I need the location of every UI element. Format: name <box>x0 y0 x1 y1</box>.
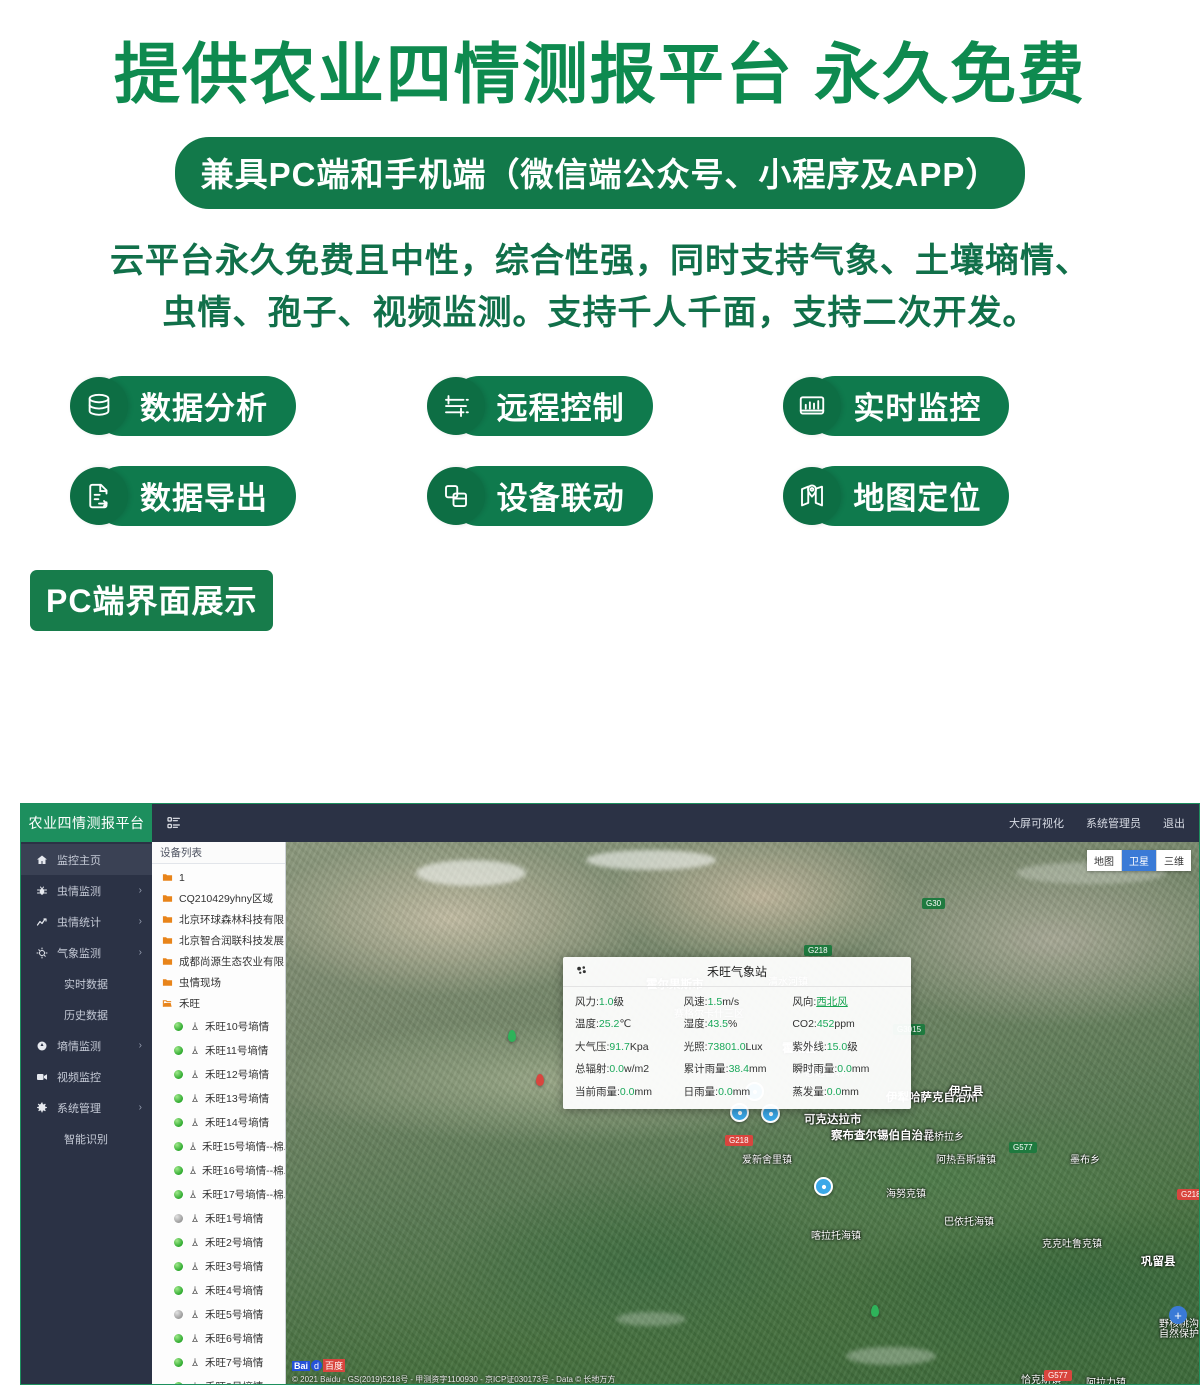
weather-value: 0.0 <box>620 1086 635 1098</box>
subtitle-badge: 兼具PC端和手机端（微信端公众号、小程序及APP） <box>175 137 1026 209</box>
device-label: 禾旺10号墒情 <box>205 1019 269 1034</box>
device-item[interactable]: 禾旺15号墒情--棉... <box>152 1134 285 1158</box>
map-label: 克克吐鲁克镇 <box>1042 1239 1102 1251</box>
sidebar-item-label: 视频监控 <box>57 1069 101 1085</box>
chevron-right-icon: › <box>139 916 142 927</box>
folder-icon <box>162 893 173 904</box>
weather-value: 0.0 <box>609 1063 624 1075</box>
sidebar-item-label: 虫情监测 <box>57 883 101 899</box>
map-label: 花桥拉乡 <box>924 1132 964 1144</box>
sidebar-item-label: 气象监测 <box>57 945 101 961</box>
weather-row: 总辐射:0.0w/m2 <box>575 1060 684 1078</box>
status-dot-online <box>174 1070 183 1079</box>
weather-unit: m/s <box>722 996 739 1008</box>
road-badge: G30 <box>922 898 945 909</box>
status-dot-online <box>174 1262 183 1271</box>
tree-folder-label: 北京环球森林科技有限... <box>179 912 285 927</box>
device-item[interactable]: 禾旺11号墒情 <box>152 1038 285 1062</box>
map-terrain-highlight <box>586 850 716 870</box>
map-layer-3d[interactable]: 三维 <box>1157 850 1191 871</box>
sidebar: 监控主页 虫情监测 › 虫情 <box>21 842 152 1385</box>
weather-label: 温度: <box>575 1018 599 1030</box>
device-label: 禾旺3号墒情 <box>205 1259 263 1274</box>
feature-label: 设备联动 <box>497 473 625 518</box>
device-label: 禾旺12号墒情 <box>205 1067 269 1082</box>
map-marker-poi[interactable] <box>871 1305 879 1317</box>
map-label: 海努克镇 <box>886 1189 926 1201</box>
map-canvas[interactable]: 地图 卫星 三维 霍尔果斯市 清水河镇 赛格尔卡什三区 霍城县 惠远古城 可克达… <box>286 842 1199 1385</box>
sidebar-item-label: 虫情统计 <box>57 914 101 930</box>
device-tree[interactable]: 1 CQ210429yhny区域 北京环球森林科技有限... 北京智合润联科技发… <box>152 864 285 1385</box>
road-badge: G218 <box>725 1135 753 1146</box>
status-dot-online <box>174 1358 183 1367</box>
folder-icon <box>162 872 173 883</box>
weather-value: 1.5 <box>708 996 723 1008</box>
map-pin-icon <box>783 467 841 525</box>
road-badge: G577 <box>1009 1142 1037 1153</box>
sidebar-item-label: 系统管理 <box>57 1100 101 1116</box>
weather-unit: mm <box>852 1063 870 1075</box>
weather-label: 光照: <box>684 1041 708 1053</box>
soil-icon <box>188 1261 201 1271</box>
device-item[interactable]: 禾旺1号墒情 <box>152 1206 285 1230</box>
weather-value: 452 <box>817 1018 835 1030</box>
database-icon <box>70 377 128 435</box>
body-copy: 云平台永久免费且中性，综合性强，同时支持气象、土壤墒情、 虫情、孢子、视频监测。… <box>0 235 1200 340</box>
weather-row: 湿度:43.5% <box>684 1015 793 1033</box>
file-export-icon <box>70 467 128 525</box>
video-icon <box>33 1071 50 1083</box>
map-marker-device[interactable] <box>814 1177 833 1196</box>
tree-folder-label: CQ210429yhny区域 <box>179 891 273 906</box>
body-copy-line-1: 云平台永久免费且中性，综合性强，同时支持气象、土壤墒情、 <box>0 235 1200 288</box>
device-label: 禾旺16号墒情--棉... <box>202 1163 285 1178</box>
feature-remote-control[interactable]: 远程控制 <box>449 376 653 436</box>
weather-popup-header: 禾旺气象站 <box>563 957 911 987</box>
weather-label: 风速: <box>684 996 708 1008</box>
status-dot-online <box>174 1238 183 1247</box>
chevron-right-icon: › <box>139 947 142 958</box>
weather-row: 蒸发量:0.0mm <box>792 1083 901 1101</box>
device-label: 禾旺17号墒情--棉... <box>202 1187 285 1202</box>
weather-value: 43.5 <box>708 1018 728 1030</box>
feature-data-export[interactable]: 数据导出 <box>92 466 296 526</box>
weather-row: 当前雨量:0.0mm <box>575 1083 684 1101</box>
page-title: 提供农业四情测报平台 永久免费 <box>0 38 1200 111</box>
tree-folder-label: 北京智合润联科技发展... <box>179 933 285 948</box>
weather-value: 0.0 <box>837 1063 852 1075</box>
tree-folder[interactable]: CQ210429yhny区域 <box>152 888 285 909</box>
baidu-logo-text-right: 百度 <box>323 1359 345 1372</box>
feature-label: 数据分析 <box>140 383 268 428</box>
status-dot-online <box>174 1046 183 1055</box>
weather-row: 风力:1.0级 <box>575 993 684 1011</box>
device-panel: 设备列表 1 CQ210429yhny区域 北京环球森林科技有限... 北京智合… <box>152 842 286 1385</box>
soil-icon <box>188 1093 201 1103</box>
status-dot-online <box>174 1334 183 1343</box>
chevron-right-icon: › <box>139 885 142 896</box>
map-marker-poi[interactable] <box>508 1030 516 1042</box>
map-label: 阿热吾斯塘镇 <box>936 1155 996 1167</box>
tree-folder-open[interactable]: 禾旺 <box>152 993 285 1014</box>
weather-popup-title: 禾旺气象站 <box>563 963 911 980</box>
weather-row: CO2:452ppm <box>792 1015 901 1033</box>
tree-folder-label: 禾旺 <box>179 996 200 1011</box>
weather-value: 38.4 <box>729 1063 749 1075</box>
tree-folder[interactable]: 虫情现场 <box>152 972 285 993</box>
map-label: 巩留县 <box>1141 1256 1176 1269</box>
status-dot-online <box>174 1094 183 1103</box>
weather-value: 0.0 <box>827 1086 842 1098</box>
soil-icon <box>188 1357 201 1367</box>
feature-device-linkage[interactable]: 设备联动 <box>449 466 653 526</box>
weather-label: 日雨量: <box>684 1086 718 1098</box>
sidebar-item-history-data[interactable]: 历史数据 <box>21 999 152 1030</box>
sliders-icon <box>427 377 485 435</box>
device-label: 禾旺15号墒情--棉... <box>202 1139 285 1154</box>
weather-value: 15.0 <box>827 1041 847 1053</box>
map-zoom-in-button[interactable]: + <box>1169 1306 1187 1324</box>
device-item[interactable]: 禾旺6号墒情 <box>152 1326 285 1350</box>
device-label: 禾旺8号墒情 <box>205 1379 263 1385</box>
sidebar-item-pest-stats[interactable]: 虫情统计 › <box>21 906 152 937</box>
device-item[interactable]: 禾旺17号墒情--棉... <box>152 1182 285 1206</box>
sidebar-item-pest-monitor[interactable]: 虫情监测 › <box>21 875 152 906</box>
weather-value: 1.0 <box>599 996 614 1008</box>
device-label: 禾旺6号墒情 <box>205 1331 263 1346</box>
app-screenshot: 农业四情测报平台 大屏可视化 系统管理员 退出 监控主页 <box>20 803 1200 1385</box>
map-terrain-highlight <box>846 1347 936 1365</box>
tree-folder[interactable]: 北京环球森林科技有限... <box>152 909 285 930</box>
device-label: 禾旺14号墒情 <box>205 1115 269 1130</box>
topbar-action-logout[interactable]: 退出 <box>1163 815 1185 831</box>
feature-label: 实时监控 <box>853 383 981 428</box>
tree-folder[interactable]: 成都尚源生态农业有限... <box>152 951 285 972</box>
soil-icon <box>188 1285 201 1295</box>
device-item[interactable]: 禾旺12号墒情 <box>152 1062 285 1086</box>
map-label: 爱新舍里镇 <box>742 1155 792 1167</box>
device-item[interactable]: 禾旺8号墒情 <box>152 1374 285 1385</box>
sidebar-item-weather-monitor[interactable]: 气象监测 › <box>21 937 152 968</box>
weather-unit: mm <box>733 1086 751 1098</box>
app-topbar: 农业四情测报平台 大屏可视化 系统管理员 退出 <box>21 804 1199 842</box>
section-tag-container: PC端界面展示 <box>30 570 1200 631</box>
weather-row: 瞬时雨量:0.0mm <box>792 1060 901 1078</box>
weather-row: 光照:73801.0Lux <box>684 1038 793 1056</box>
map-label: 喀拉托海镇 <box>811 1231 861 1243</box>
feature-data-analysis[interactable]: 数据分析 <box>92 376 296 436</box>
status-dot-online <box>174 1382 183 1385</box>
weather-popup[interactable]: 禾旺气象站 风力:1.0级 风速:1.5m/s 风向:西北风 温度:25.2℃ … <box>563 957 911 1109</box>
weather-value: 西北风 <box>816 996 848 1008</box>
weather-label: CO2: <box>792 1018 817 1030</box>
soil-icon <box>188 1381 201 1385</box>
topbar-actions: 大屏可视化 系统管理员 退出 <box>1009 804 1185 842</box>
sidebar-item-video-monitor[interactable]: 视频监控 <box>21 1061 152 1092</box>
sidebar-item-home[interactable]: 监控主页 <box>21 844 152 875</box>
folder-icon <box>162 956 173 967</box>
baidu-logo-text-left: Bai <box>292 1361 310 1371</box>
sidebar-item-realtime-data[interactable]: 实时数据 <box>21 968 152 999</box>
map-terrain-highlight <box>616 1312 686 1326</box>
weather-unit: mm <box>635 1086 653 1098</box>
baidu-logo: Bai d 百度 <box>292 1359 345 1372</box>
status-dot-offline <box>174 1214 183 1223</box>
status-dot-online <box>174 1118 183 1127</box>
gear-icon <box>33 1102 50 1114</box>
map-label: 可克达拉市 <box>804 1114 862 1127</box>
feature-label: 地图定位 <box>853 473 981 518</box>
weather-unit: 级 <box>614 996 625 1008</box>
weather-row: 风速:1.5m/s <box>684 993 793 1011</box>
folder-icon <box>162 914 173 925</box>
device-label: 禾旺2号墒情 <box>205 1235 263 1250</box>
weather-label: 湿度: <box>684 1018 708 1030</box>
soil-icon <box>188 1045 201 1055</box>
weather-unit: mm <box>749 1063 767 1075</box>
device-item[interactable]: 禾旺3号墒情 <box>152 1254 285 1278</box>
folder-open-icon <box>162 998 173 1009</box>
weather-label: 总辐射: <box>575 1063 609 1075</box>
map-attribution-text: © 2021 Baidu - GS(2019)5218号 - 甲测资字11009… <box>286 1374 615 1385</box>
device-label: 禾旺7号墒情 <box>205 1355 263 1370</box>
road-badge: G218 <box>804 945 832 956</box>
soil-icon <box>188 1309 201 1319</box>
topbar-action-bigscreen[interactable]: 大屏可视化 <box>1009 815 1064 831</box>
weather-label: 风力: <box>575 996 599 1008</box>
weather-value: 0.0 <box>718 1086 733 1098</box>
soil-icon <box>188 1141 198 1151</box>
monitor-icon <box>783 377 841 435</box>
map-terrain-highlight <box>416 860 526 886</box>
device-label: 禾旺4号墒情 <box>205 1283 263 1298</box>
weather-value: 73801.0 <box>708 1041 746 1053</box>
chevron-right-icon: › <box>139 1040 142 1051</box>
feature-label: 远程控制 <box>497 383 625 428</box>
map-label: 伊宁县 <box>949 1086 984 1099</box>
device-item[interactable]: 禾旺5号墒情 <box>152 1302 285 1326</box>
list-toggle-icon[interactable] <box>166 815 182 831</box>
app-brand: 农业四情测报平台 <box>21 804 152 842</box>
settings-icon[interactable] <box>575 964 589 981</box>
weather-label: 紫外线: <box>792 1041 826 1053</box>
weather-value: 91.7 <box>609 1041 629 1053</box>
weather-row: 紫外线:15.0级 <box>792 1038 901 1056</box>
map-label: 巴依托海镇 <box>944 1217 994 1229</box>
weather-row: 风向:西北风 <box>792 993 901 1011</box>
weather-label: 风向: <box>792 996 816 1008</box>
sun-icon <box>33 947 50 959</box>
folder-icon <box>162 977 173 988</box>
weather-label: 当前雨量: <box>575 1086 620 1098</box>
device-item[interactable]: 禾旺4号墒情 <box>152 1278 285 1302</box>
device-item[interactable]: 禾旺7号墒情 <box>152 1350 285 1374</box>
device-item[interactable]: 禾旺10号墒情 <box>152 1014 285 1038</box>
subtitle-container: 兼具PC端和手机端（微信端公众号、小程序及APP） <box>0 137 1200 209</box>
soil-icon <box>188 1069 201 1079</box>
chart-line-icon <box>33 916 50 928</box>
weather-unit: 级 <box>847 1041 858 1053</box>
chevron-right-icon: › <box>139 1102 142 1113</box>
weather-row: 大气压:91.7Kpa <box>575 1038 684 1056</box>
weather-unit: ℃ <box>619 1018 631 1030</box>
status-dot-online <box>174 1166 183 1175</box>
feature-list: 数据分析 远程控制 实时监控 <box>70 376 1130 526</box>
sidebar-item-label: 监控主页 <box>57 852 101 868</box>
status-dot-offline <box>174 1310 183 1319</box>
tree-folder[interactable]: 1 <box>152 867 285 888</box>
weather-unit: Lux <box>746 1041 763 1053</box>
soil-icon <box>188 1117 201 1127</box>
device-label: 禾旺11号墒情 <box>205 1043 268 1058</box>
status-dot-online <box>174 1022 183 1031</box>
feature-label: 数据导出 <box>140 473 268 518</box>
map-attribution-bar: © 2021 Baidu - GS(2019)5218号 - 甲测资字11009… <box>286 1373 1199 1385</box>
soil-icon <box>188 1213 201 1223</box>
body-copy-line-2: 虫情、孢子、视频监测。支持千人千面，支持二次开发。 <box>0 287 1200 340</box>
soil-icon <box>188 1333 201 1343</box>
status-dot-online <box>174 1142 183 1151</box>
soil-icon <box>188 1189 198 1199</box>
folder-icon <box>162 935 173 946</box>
soil-icon <box>188 1021 201 1031</box>
status-dot-online <box>174 1190 183 1199</box>
tree-folder-label: 1 <box>179 872 185 884</box>
weather-row: 温度:25.2℃ <box>575 1015 684 1033</box>
weather-label: 大气压: <box>575 1041 609 1053</box>
sidebar-item-system-manage[interactable]: 系统管理 › <box>21 1092 152 1123</box>
weather-unit: % <box>728 1018 737 1030</box>
sidebar-item-smart-recognition[interactable]: 智能识别 <box>21 1123 152 1154</box>
map-label: 自然保护区 <box>1159 1329 1199 1341</box>
devices-link-icon <box>427 467 485 525</box>
device-label: 禾旺13号墒情 <box>205 1091 269 1106</box>
tree-folder-label: 虫情现场 <box>179 975 221 990</box>
weather-popup-grid: 风力:1.0级 风速:1.5m/s 风向:西北风 温度:25.2℃ 湿度:43.… <box>563 987 911 1109</box>
map-layer-satellite[interactable]: 卫星 <box>1122 850 1157 871</box>
status-dot-online <box>174 1286 183 1295</box>
weather-unit: mm <box>841 1086 859 1098</box>
device-label: 禾旺1号墒情 <box>205 1211 263 1226</box>
droplet-icon <box>33 1040 50 1052</box>
sidebar-item-label: 墒情监测 <box>57 1038 101 1054</box>
topbar-action-user[interactable]: 系统管理员 <box>1086 815 1141 831</box>
weather-value: 25.2 <box>599 1018 619 1030</box>
home-icon <box>33 854 50 866</box>
map-label: 墨布乡 <box>1070 1155 1100 1167</box>
weather-unit: ppm <box>834 1018 854 1030</box>
bug-icon <box>33 885 50 897</box>
tree-folder-label: 成都尚源生态农业有限... <box>179 954 285 969</box>
device-item[interactable]: 禾旺14号墒情 <box>152 1110 285 1134</box>
weather-unit: Kpa <box>630 1041 649 1053</box>
section-tag: PC端界面展示 <box>30 570 273 631</box>
weather-label: 蒸发量: <box>792 1086 826 1098</box>
device-item[interactable]: 禾旺2号墒情 <box>152 1230 285 1254</box>
device-item[interactable]: 禾旺16号墒情--棉... <box>152 1158 285 1182</box>
soil-icon <box>188 1237 201 1247</box>
feature-realtime-monitor[interactable]: 实时监控 <box>805 376 1009 436</box>
road-badge: G218 <box>1177 1189 1199 1200</box>
weather-row: 累计雨量:38.4mm <box>684 1060 793 1078</box>
device-item[interactable]: 禾旺13号墒情 <box>152 1086 285 1110</box>
baidu-logo-mark: d <box>311 1360 322 1371</box>
weather-unit: w/m2 <box>624 1063 649 1075</box>
map-marker-poi[interactable] <box>536 1074 544 1086</box>
soil-icon <box>188 1165 198 1175</box>
weather-label: 累计雨量: <box>684 1063 729 1075</box>
sidebar-item-soil-monitor[interactable]: 墒情监测 › <box>21 1030 152 1061</box>
app-body: 监控主页 虫情监测 › 虫情 <box>21 842 1199 1385</box>
weather-label: 瞬时雨量: <box>792 1063 837 1075</box>
map-layer-switcher[interactable]: 地图 卫星 三维 <box>1087 850 1191 871</box>
weather-row: 日雨量:0.0mm <box>684 1083 793 1101</box>
device-label: 禾旺5号墒情 <box>205 1307 263 1322</box>
device-panel-title: 设备列表 <box>152 842 285 864</box>
tree-folder[interactable]: 北京智合润联科技发展... <box>152 930 285 951</box>
feature-map-location[interactable]: 地图定位 <box>805 466 1009 526</box>
map-layer-normal[interactable]: 地图 <box>1087 850 1122 871</box>
map-label: 察布查尔锡伯自治县 <box>831 1130 889 1143</box>
